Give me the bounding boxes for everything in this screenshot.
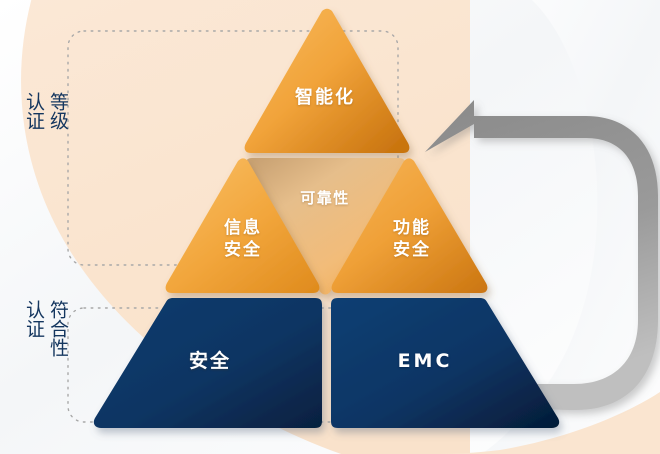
diagram-canvas: 等级 认证 符合性 认证 智能化 可靠性 信息 安全 功能 安全 安全 EMC — [0, 0, 660, 454]
pyramid-layer — [0, 0, 660, 454]
tile-intelligence[interactable] — [245, 9, 410, 153]
tile-emc[interactable] — [331, 298, 559, 428]
tile-safety[interactable] — [94, 298, 322, 428]
side-label-conformity-col1: 符合性 — [46, 300, 69, 357]
side-label-grade-certification: 等级 认证 — [22, 92, 69, 130]
side-label-conformity-col2: 认证 — [22, 300, 45, 357]
side-label-grade-col2: 认证 — [22, 92, 45, 130]
side-label-conformity-certification: 符合性 认证 — [22, 300, 69, 357]
side-label-grade-col1: 等级 — [46, 92, 69, 130]
